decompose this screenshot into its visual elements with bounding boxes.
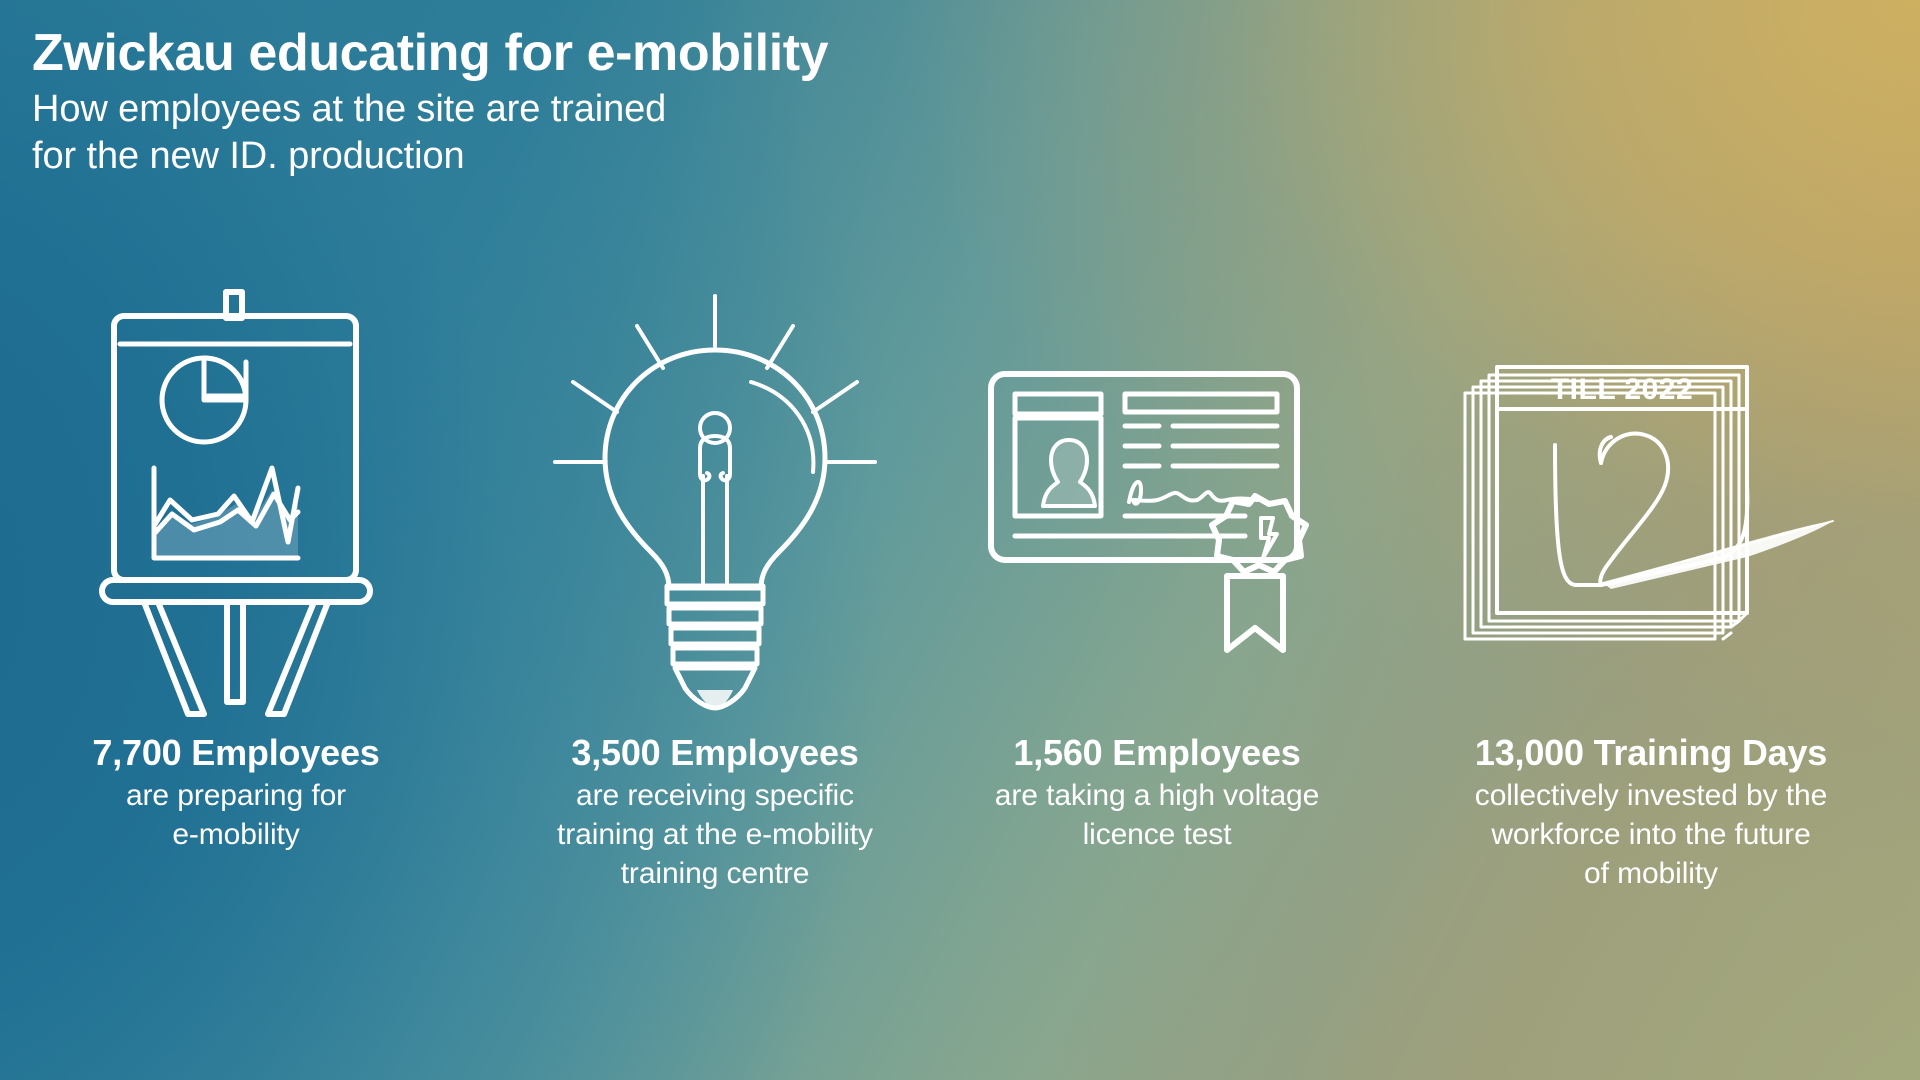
calendar-year-label: TILL 2022 [1551, 373, 1693, 406]
lightbulb-person-icon [495, 280, 935, 730]
infographic-canvas: Zwickau educating for e-mobility How emp… [0, 0, 1920, 1080]
stat-value: 3,500 Employees [505, 730, 925, 776]
stats-row: 7,700 Employees are preparing for e-mobi… [0, 280, 1920, 893]
stat-block: 7,700 Employees are preparing for e-mobi… [0, 730, 486, 854]
stat-description: are preparing for e-mobility [0, 776, 476, 854]
stat-column-training-days: TILL 2022 13,000 Training [1370, 280, 1920, 893]
calendar-tear-off-icon: TILL 2022 [1376, 280, 1920, 730]
stat-desc-line: e-mobility [0, 815, 476, 854]
stat-value: 13,000 Training Days [1386, 730, 1916, 776]
subtitle-line-1: How employees at the site are trained [32, 86, 828, 133]
stat-block: 3,500 Employees are receiving specific t… [495, 730, 935, 893]
stat-description: are taking a high voltage licence test [952, 776, 1362, 854]
stat-column-specific-training: 3,500 Employees are receiving specific t… [500, 280, 940, 893]
stat-desc-line: of mobility [1386, 854, 1916, 893]
page-subtitle: How employees at the site are trained fo… [32, 86, 828, 180]
id-card-certificate-icon [942, 280, 1372, 730]
stat-column-high-voltage-licence: 1,560 Employees are taking a high voltag… [940, 280, 1370, 854]
stat-block: 13,000 Training Days collectively invest… [1376, 730, 1920, 893]
flipchart-easel-icon [0, 280, 486, 730]
page-title: Zwickau educating for e-mobility [32, 24, 828, 82]
subtitle-line-2: for the new ID. production [32, 133, 828, 180]
stat-desc-line: workforce into the future [1386, 815, 1916, 854]
stat-desc-line: are receiving specific [505, 776, 925, 815]
stat-desc-line: licence test [952, 815, 1362, 854]
stat-desc-line: training centre [505, 854, 925, 893]
stat-desc-line: training at the e-mobility [505, 815, 925, 854]
header-block: Zwickau educating for e-mobility How emp… [32, 24, 828, 180]
stat-description: are receiving specific training at the e… [505, 776, 925, 893]
stat-description: collectively invested by the workforce i… [1386, 776, 1916, 893]
stat-block: 1,560 Employees are taking a high voltag… [942, 730, 1372, 854]
stat-desc-line: are preparing for [0, 776, 476, 815]
stat-column-employees-preparing: 7,700 Employees are preparing for e-mobi… [0, 280, 500, 854]
stat-desc-line: are taking a high voltage [952, 776, 1362, 815]
stat-value: 1,560 Employees [952, 730, 1362, 776]
stat-value: 7,700 Employees [0, 730, 476, 776]
stat-desc-line: collectively invested by the [1386, 776, 1916, 815]
